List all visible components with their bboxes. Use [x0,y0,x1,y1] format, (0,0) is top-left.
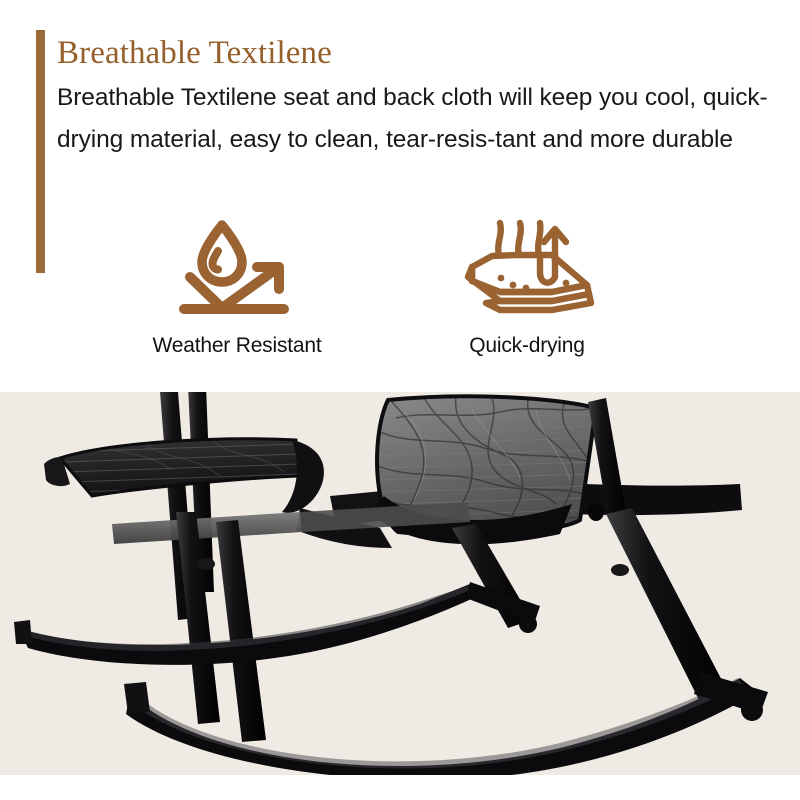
product-feature-card: Breathable Textilene Breathable Textilen… [0,0,800,800]
feature-label: Quick-drying [469,334,584,358]
bottom-white-strip [0,775,800,800]
info-panel: Breathable Textilene Breathable Textilen… [0,0,800,392]
copy-block: Breathable Textilene Breathable Textilen… [57,33,777,161]
body-copy: Breathable Textilene seat and back cloth… [57,77,775,161]
product-photo [0,392,800,775]
feature-list: Weather Resistant [0,214,800,374]
feature-label: Weather Resistant [153,334,322,358]
feature-quick-drying: Quick-drying [447,214,607,358]
water-droplet-repellent-icon [178,214,296,320]
layered-fabric-moisture-wicking-icon [456,214,598,320]
headline: Breathable Textilene [57,33,777,73]
feature-weather-resistant: Weather Resistant [157,214,317,358]
